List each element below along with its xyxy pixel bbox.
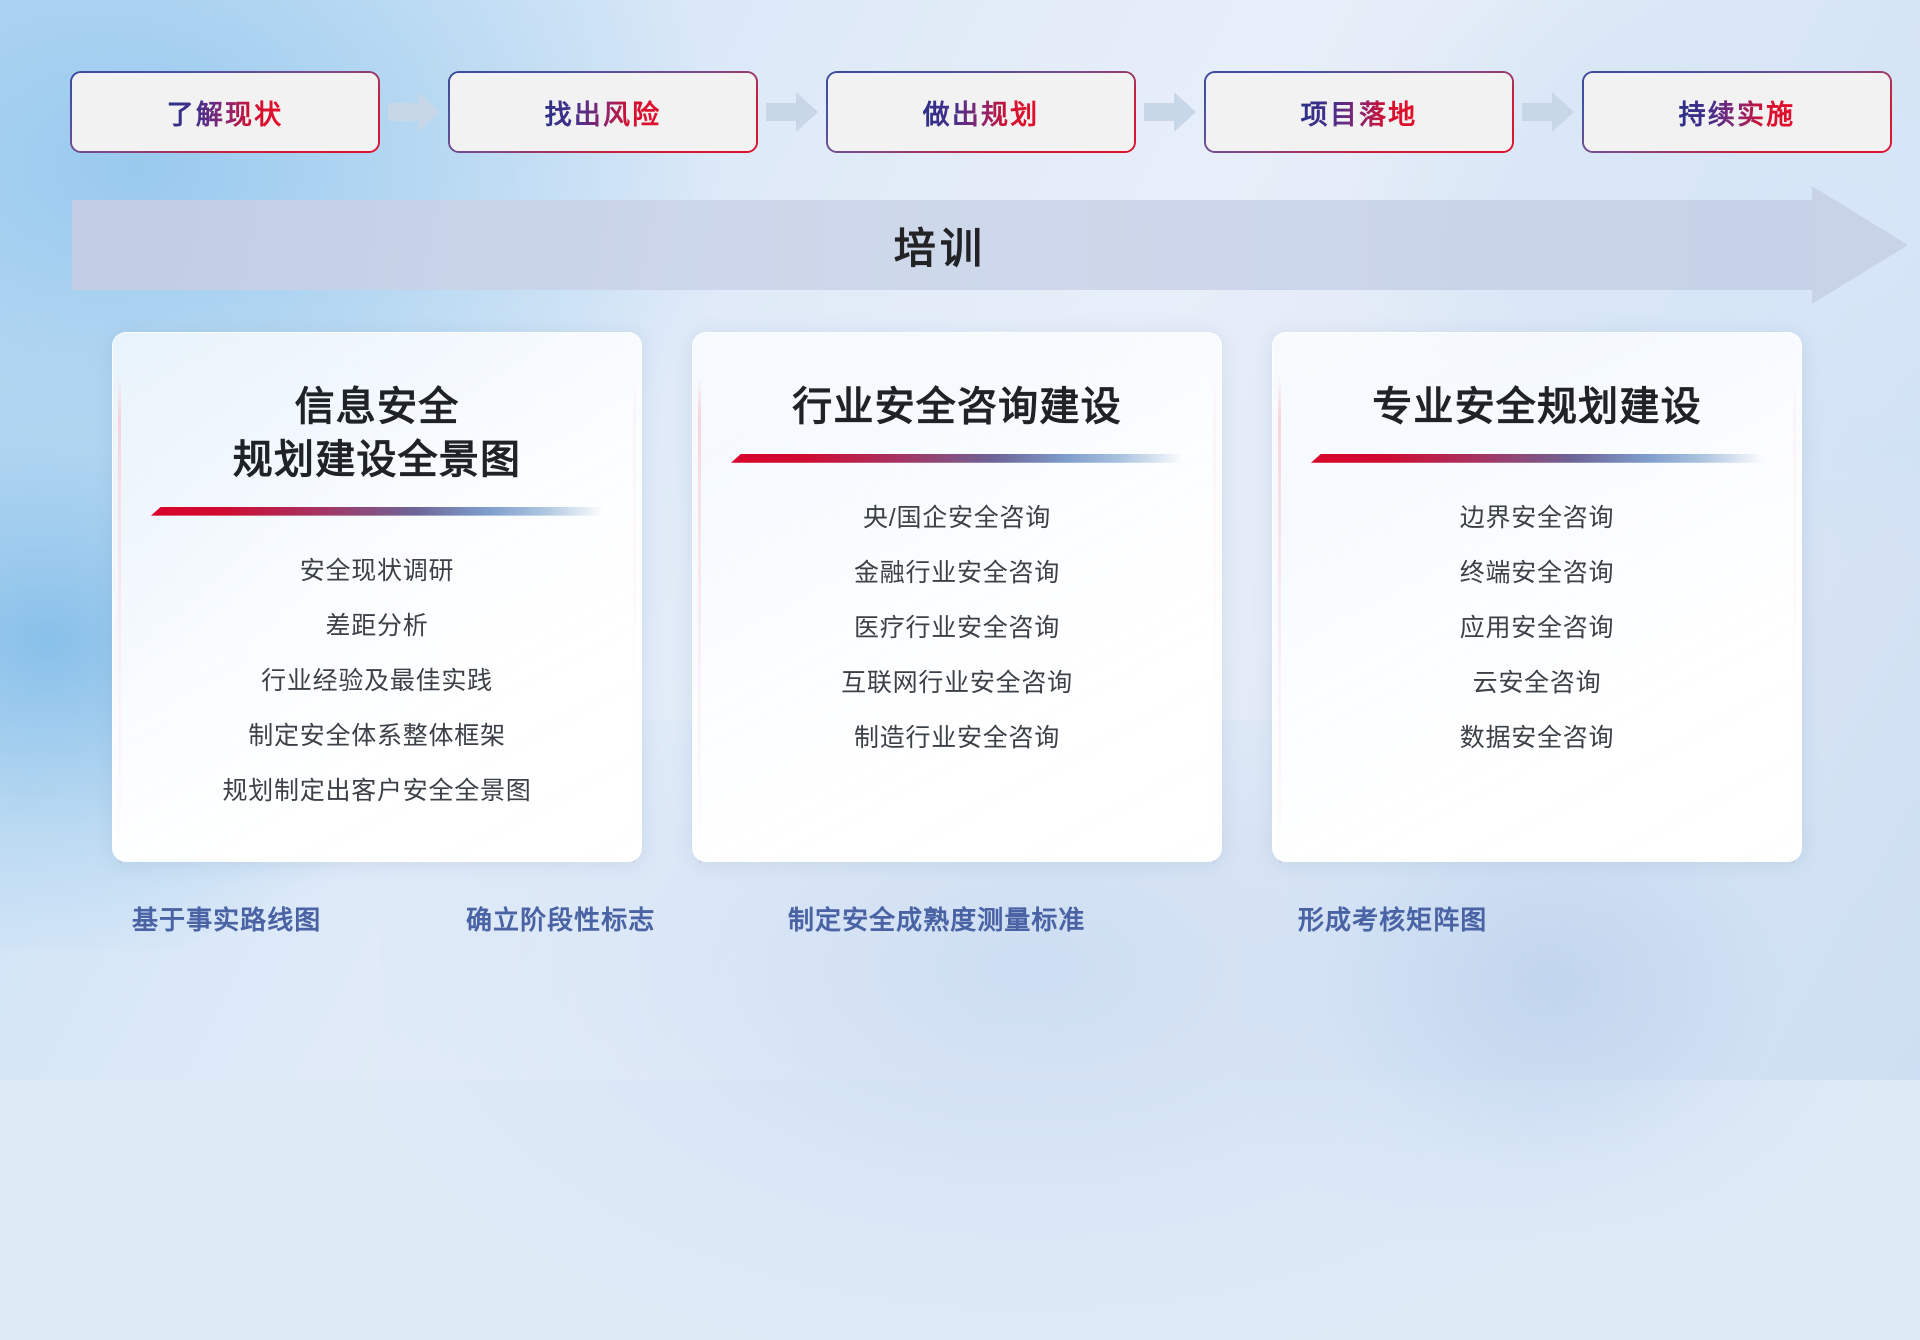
card-item-list-3: 边界安全咨询 终端安全咨询 应用安全咨询 云安全咨询 数据安全咨询 <box>1460 493 1615 764</box>
step-box-5[interactable]: 持续实施 <box>1584 73 1890 151</box>
card-title-1: 信息安全 规划建设全景图 <box>233 381 521 487</box>
list-item: 差距分析 <box>325 601 428 652</box>
process-step-flow: 了解现状 找出风险 做出规划 项目落地 持续实施 <box>0 72 1920 152</box>
list-item: 央/国企安全咨询 <box>863 493 1051 544</box>
step-label-1: 了解现状 <box>167 93 284 132</box>
step-label-2: 找出风险 <box>545 93 662 132</box>
card-title-2: 行业安全咨询建设 <box>792 381 1122 434</box>
list-item: 行业经验及最佳实践 <box>261 656 493 707</box>
list-item: 终端安全咨询 <box>1460 548 1615 599</box>
step-box-1[interactable]: 了解现状 <box>72 73 378 151</box>
arrow-right-icon <box>764 90 820 134</box>
service-card-wrapper-1: 信息安全 规划建设全景图 安全现状调研 差距分析 行业经验及最佳实践 制定安全体… <box>112 332 642 872</box>
list-item: 规划制定出客户安全全景图 <box>222 766 531 817</box>
card-divider-rule <box>1311 454 1763 463</box>
arrow-right-icon <box>1142 90 1198 134</box>
footer-label-4: 形成考核矩阵图 <box>1298 900 1487 937</box>
card-divider-rule <box>151 507 603 516</box>
arrow-right-icon <box>1520 90 1576 134</box>
footer-label-2: 确立阶段性标志 <box>466 900 655 937</box>
list-item: 制造行业安全咨询 <box>854 713 1060 764</box>
service-card-wrapper-3: 专业安全规划建设 边界安全咨询 终端安全咨询 应用安全咨询 云安全咨询 数据安全… <box>1272 332 1802 872</box>
list-item: 金融行业安全咨询 <box>854 548 1060 599</box>
list-item: 数据安全咨询 <box>1460 713 1615 764</box>
service-card-row: 信息安全 规划建设全景图 安全现状调研 差距分析 行业经验及最佳实践 制定安全体… <box>0 332 1920 872</box>
step-box-4[interactable]: 项目落地 <box>1206 73 1512 151</box>
footer-label-3: 制定安全成熟度测量标准 <box>788 900 1085 937</box>
card-item-list-1: 安全现状调研 差距分析 行业经验及最佳实践 制定安全体系整体框架 规划制定出客户… <box>222 546 531 817</box>
service-card-3[interactable]: 专业安全规划建设 边界安全咨询 终端安全咨询 应用安全咨询 云安全咨询 数据安全… <box>1272 332 1802 862</box>
card-title-3: 专业安全规划建设 <box>1372 381 1702 434</box>
service-card-wrapper-2: 行业安全咨询建设 央/国企安全咨询 金融行业安全咨询 医疗行业安全咨询 互联网行… <box>692 332 1222 872</box>
list-item: 医疗行业安全咨询 <box>854 603 1060 654</box>
footer-label-row: 基于事实路线图 确立阶段性标志 制定安全成熟度测量标准 形成考核矩阵图 <box>0 900 1920 960</box>
service-card-2[interactable]: 行业安全咨询建设 央/国企安全咨询 金融行业安全咨询 医疗行业安全咨询 互联网行… <box>692 332 1222 862</box>
list-item: 云安全咨询 <box>1473 658 1602 709</box>
service-card-1[interactable]: 信息安全 规划建设全景图 安全现状调研 差距分析 行业经验及最佳实践 制定安全体… <box>112 332 642 862</box>
step-label-5: 持续实施 <box>1679 93 1796 132</box>
step-box-3[interactable]: 做出规划 <box>828 73 1134 151</box>
training-banner-label: 培训 <box>72 200 1848 290</box>
card-divider-rule <box>731 454 1183 463</box>
list-item: 安全现状调研 <box>300 546 455 597</box>
list-item: 制定安全体系整体框架 <box>248 711 506 762</box>
arrow-right-icon <box>386 90 442 134</box>
list-item: 互联网行业安全咨询 <box>841 658 1073 709</box>
step-label-3: 做出规划 <box>923 93 1040 132</box>
card-item-list-2: 央/国企安全咨询 金融行业安全咨询 医疗行业安全咨询 互联网行业安全咨询 制造行… <box>841 493 1073 764</box>
list-item: 边界安全咨询 <box>1460 493 1615 544</box>
step-box-2[interactable]: 找出风险 <box>450 73 756 151</box>
step-label-4: 项目落地 <box>1301 93 1418 132</box>
list-item: 应用安全咨询 <box>1460 603 1615 654</box>
training-banner: 培训 <box>72 200 1848 290</box>
footer-label-1: 基于事实路线图 <box>132 900 321 937</box>
